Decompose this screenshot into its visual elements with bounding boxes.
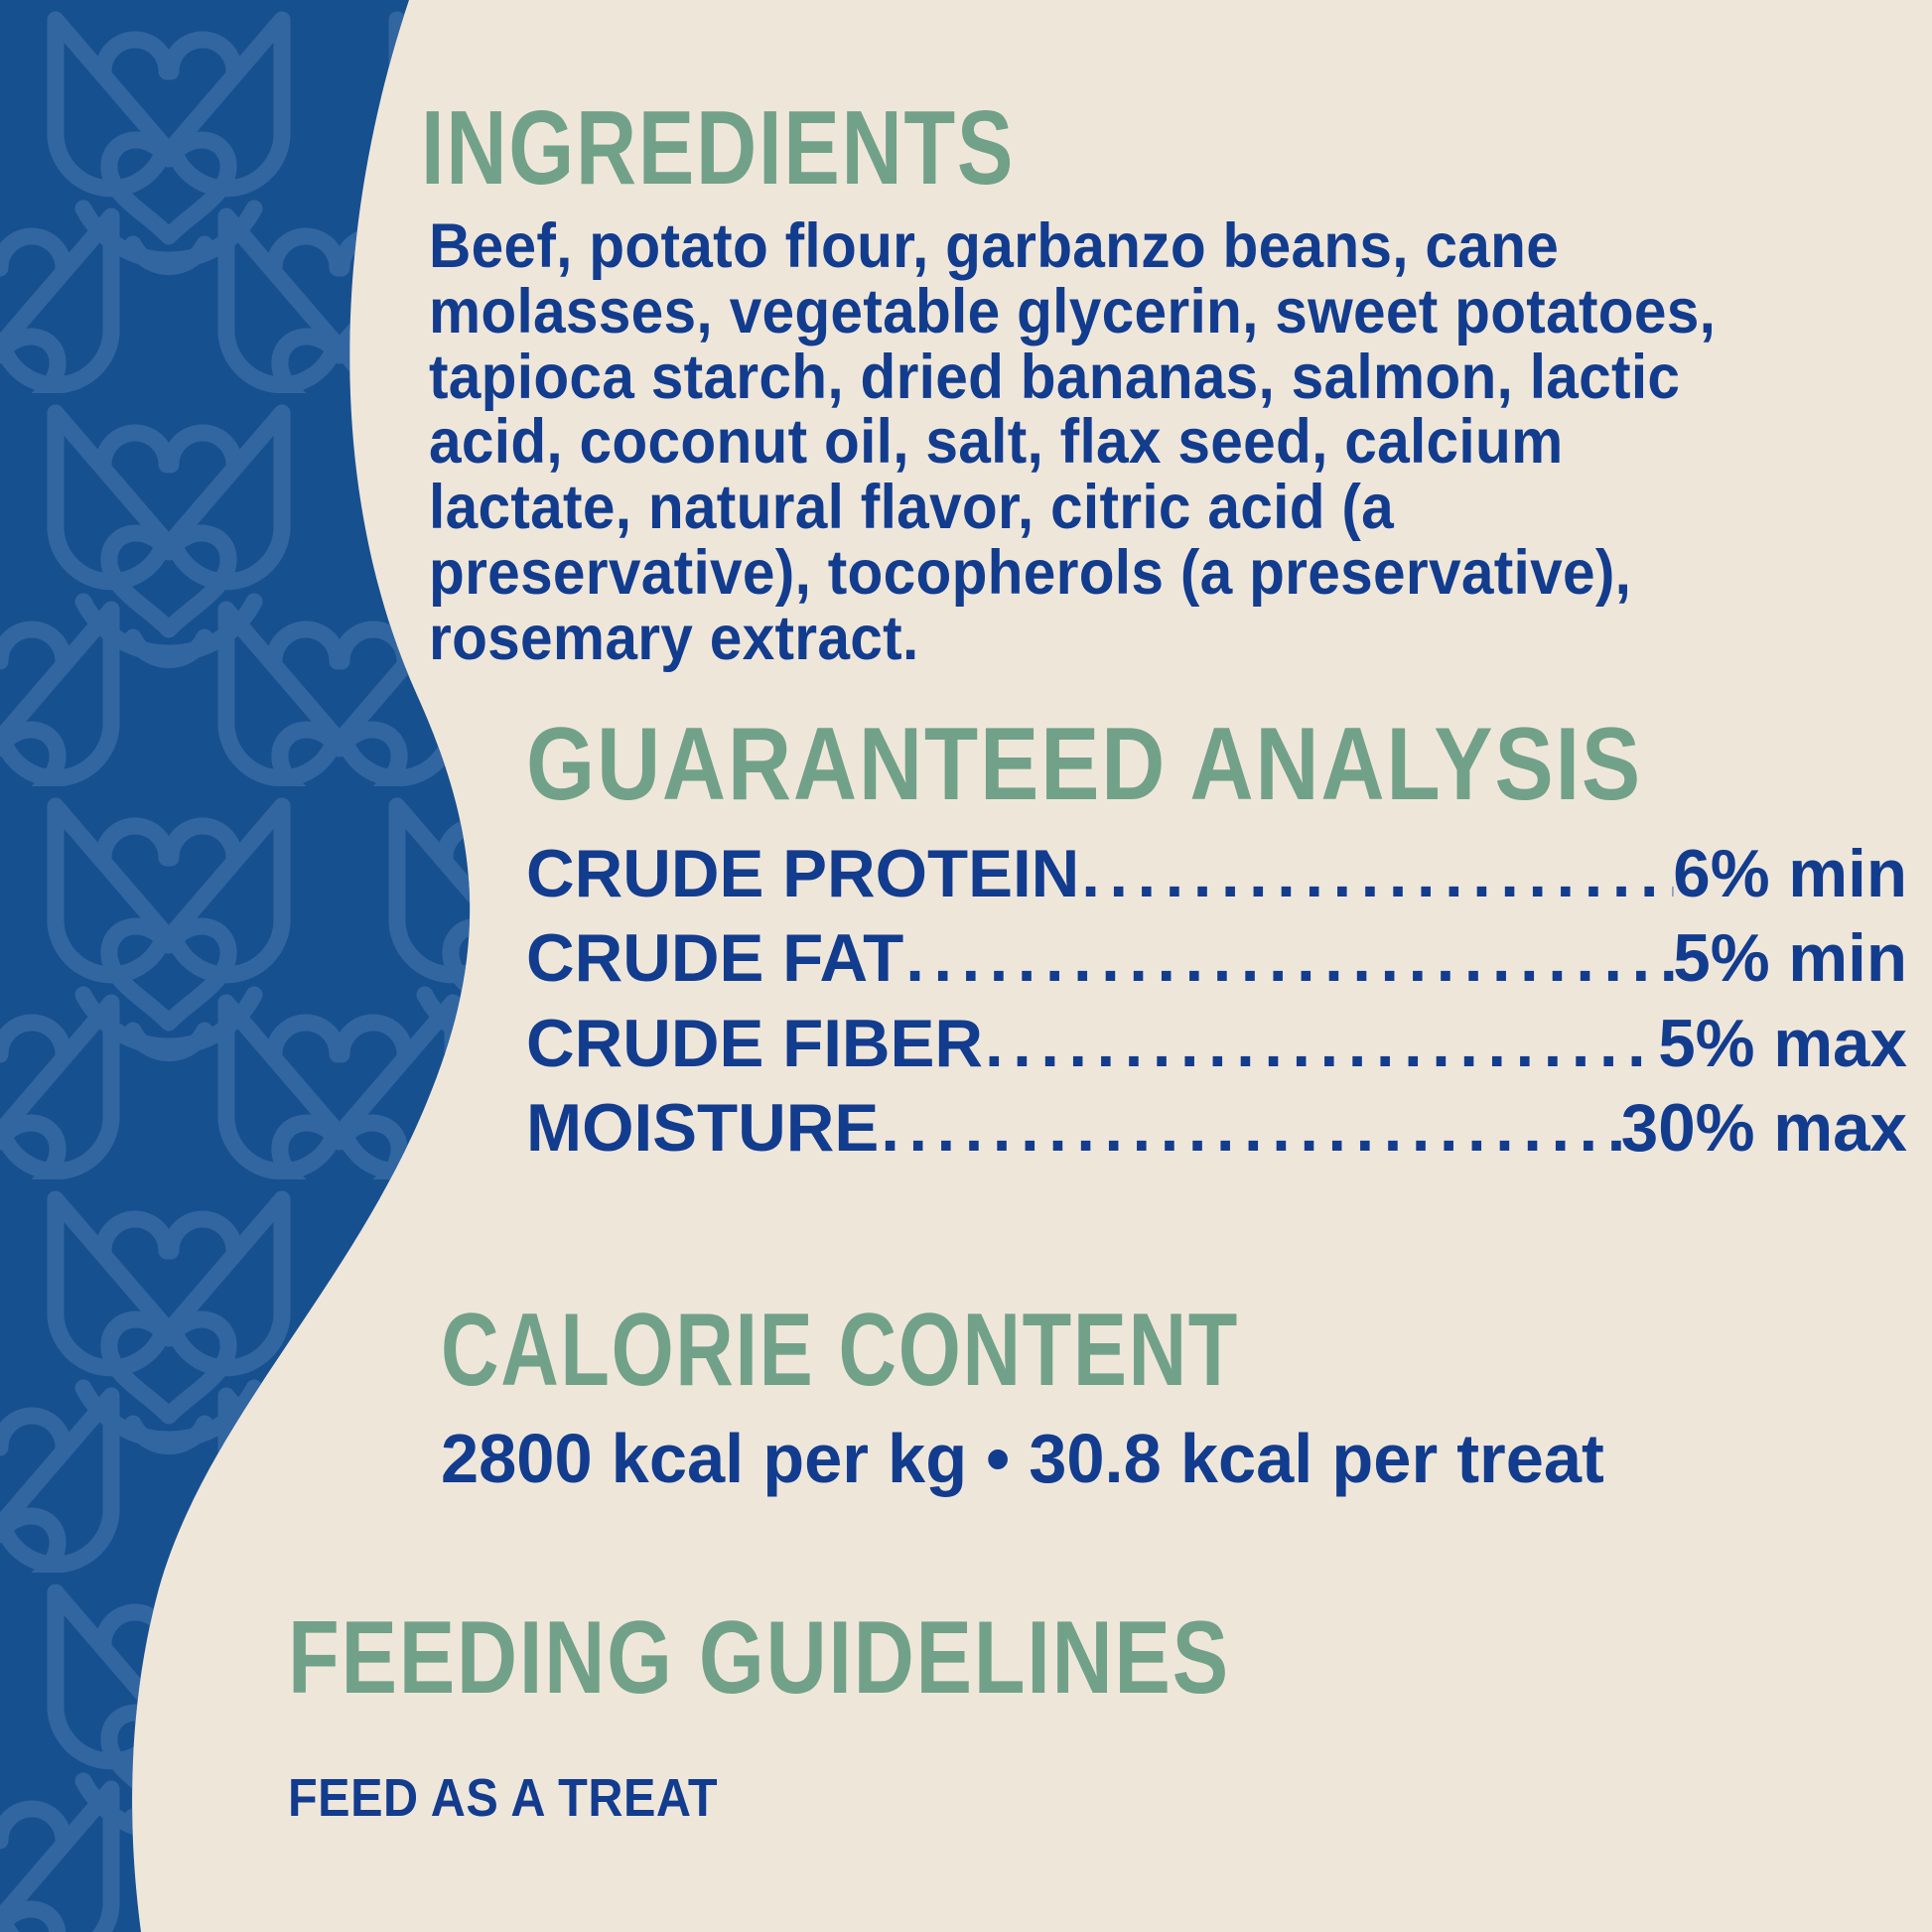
- analysis-row-leader: ........................................…: [1079, 832, 1673, 916]
- analysis-row: CRUDE FIBER ............................…: [526, 1002, 1907, 1086]
- analysis-row-label: MOISTURE: [526, 1086, 879, 1171]
- analysis-row-value: 6% min: [1673, 832, 1907, 916]
- guaranteed-analysis-section: GUARANTEED ANALYSIS CRUDE PROTEIN ......…: [526, 713, 1916, 1171]
- calorie-content-heading: CALORIE CONTENT: [441, 1299, 1564, 1402]
- analysis-row: MOISTURE ...............................…: [526, 1086, 1907, 1171]
- analysis-row-value: 5% min: [1673, 916, 1907, 1001]
- feeding-guidelines-text: FEED AS A TREAT: [288, 1771, 1682, 1825]
- guaranteed-analysis-rows: CRUDE PROTEIN ..........................…: [526, 832, 1907, 1171]
- analysis-row: CRUDE FAT ..............................…: [526, 916, 1907, 1001]
- feeding-guidelines-heading: FEEDING GUIDELINES: [288, 1606, 1550, 1710]
- analysis-row-label: CRUDE FIBER: [526, 1002, 983, 1086]
- calorie-content-text: 2800 kcal per kg • 30.8 kcal per treat: [441, 1424, 1852, 1493]
- ingredients-body-text: Beef, potato flour, garbanzo beans, cane…: [429, 214, 1722, 672]
- calorie-content-section: CALORIE CONTENT 2800 kcal per kg • 30.8 …: [441, 1299, 1880, 1493]
- analysis-row: CRUDE PROTEIN ..........................…: [526, 832, 1907, 916]
- analysis-row-label: CRUDE PROTEIN: [526, 832, 1079, 916]
- label-content: INGREDIENTS Beef, potato flour, garbanzo…: [0, 0, 1932, 1932]
- analysis-row-leader: ........................................…: [983, 1002, 1658, 1086]
- analysis-row-leader: ........................................…: [879, 1086, 1620, 1171]
- analysis-row-value: 5% max: [1658, 1002, 1907, 1086]
- analysis-row-value: 30% max: [1621, 1086, 1907, 1171]
- ingredients-section: INGREDIENTS Beef, potato flour, garbanzo…: [421, 95, 1870, 672]
- feeding-guidelines-section: FEEDING GUIDELINES FEED AS A TREAT: [288, 1606, 1837, 1825]
- ingredients-heading: INGREDIENTS: [421, 95, 1581, 201]
- analysis-row-leader: ........................................…: [903, 916, 1673, 1001]
- analysis-row-label: CRUDE FAT: [526, 916, 903, 1001]
- product-label-panel: INGREDIENTS Beef, potato flour, garbanzo…: [0, 0, 1932, 1932]
- guaranteed-analysis-heading: GUARANTEED ANALYSIS: [526, 713, 1715, 816]
